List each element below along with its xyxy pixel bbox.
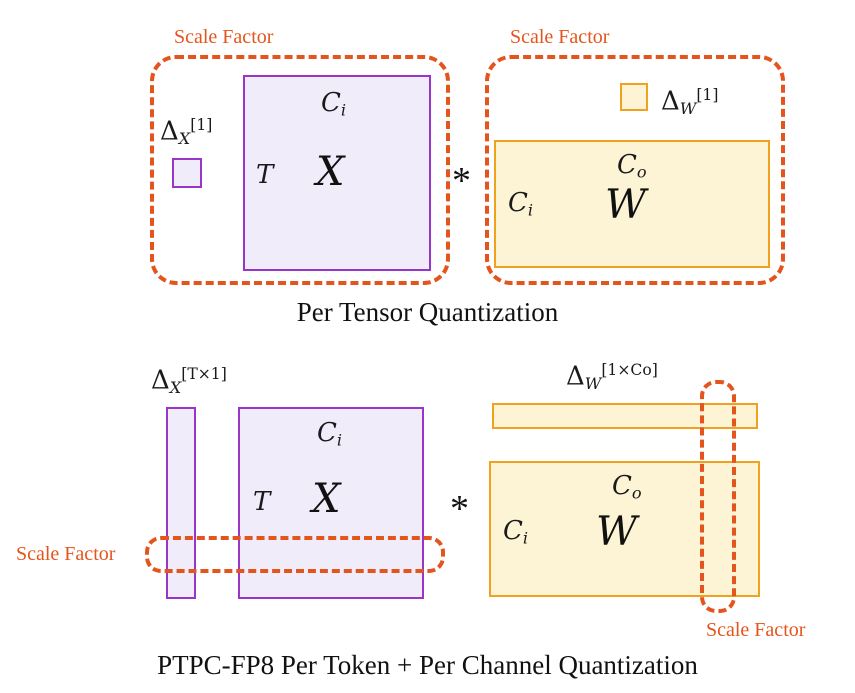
delta-subscript: X: [170, 378, 181, 397]
bottom-weight-cols-dim: Co: [612, 473, 642, 502]
dim-subscript: i: [523, 529, 528, 548]
dim-subscript: i: [337, 431, 342, 450]
delta-symbol: Δ: [160, 117, 179, 147]
delta-superscript: [1]: [190, 116, 212, 134]
top-activation-rows-dim: T: [256, 162, 273, 188]
dim-subscript: i: [528, 201, 533, 220]
bottom-row-caption: PTPC-FP8 Per Token + Per Channel Quantiz…: [0, 650, 855, 681]
dim-subscript: o: [632, 484, 642, 503]
delta-subscript: X: [179, 129, 190, 148]
dim-subscript: i: [341, 101, 346, 120]
bottom-weight-rows-dim: Ci: [503, 518, 528, 547]
bottom-weight-delta-label: ΔW[1×Co]: [566, 363, 658, 392]
delta-superscript: [1]: [696, 86, 718, 104]
bottom-activation-rows-dim: T: [253, 489, 270, 515]
top-weight-rows-dim: Ci: [508, 190, 533, 219]
dim-subscript: o: [637, 163, 647, 182]
dim-letter: C: [503, 516, 523, 546]
bottom-right-scale-factor-label: Scale Factor: [706, 620, 805, 640]
top-activation-scale-square: [172, 158, 202, 188]
delta-subscript: W: [585, 374, 602, 393]
delta-symbol: Δ: [151, 366, 170, 396]
dim-letter: C: [617, 150, 637, 180]
delta-superscript: [T×1]: [181, 365, 227, 383]
dim-letter: C: [321, 88, 341, 118]
top-activation-cols-dim: Ci: [321, 90, 346, 119]
top-weight-scale-square: [620, 83, 648, 111]
bottom-left-scale-factor-label: Scale Factor: [16, 544, 115, 564]
top-row-caption: Per Tensor Quantization: [0, 297, 855, 328]
bottom-channel-scale-band: [700, 380, 736, 613]
top-left-scale-factor-label: Scale Factor: [174, 27, 273, 47]
bottom-token-scale-band: [145, 536, 445, 573]
delta-symbol: Δ: [661, 87, 680, 117]
quantization-diagram: Scale Factor ΔX[1] Ci T X * Scale Factor…: [0, 0, 855, 693]
delta-superscript: [1×Co]: [601, 361, 657, 379]
bottom-weight-tensor-name: W: [596, 512, 637, 552]
delta-symbol: Δ: [566, 362, 585, 392]
top-activation-tensor-name: X: [316, 152, 344, 192]
top-weight-delta-label: ΔW[1]: [661, 88, 718, 117]
dim-letter: C: [612, 471, 632, 501]
top-right-scale-factor-label: Scale Factor: [510, 27, 609, 47]
bottom-multiply-operator: *: [450, 490, 469, 528]
bottom-activation-cols-dim: Ci: [317, 420, 342, 449]
top-activation-delta-label: ΔX[1]: [160, 118, 212, 147]
delta-subscript: W: [680, 99, 697, 118]
bottom-activation-delta-label: ΔX[T×1]: [151, 367, 227, 396]
dim-letter: C: [317, 418, 337, 448]
dim-letter: C: [508, 188, 528, 218]
top-weight-cols-dim: Co: [617, 152, 647, 181]
top-multiply-operator: *: [452, 162, 471, 200]
top-weight-tensor-name: W: [605, 185, 646, 225]
bottom-activation-tensor-name: X: [312, 479, 340, 519]
